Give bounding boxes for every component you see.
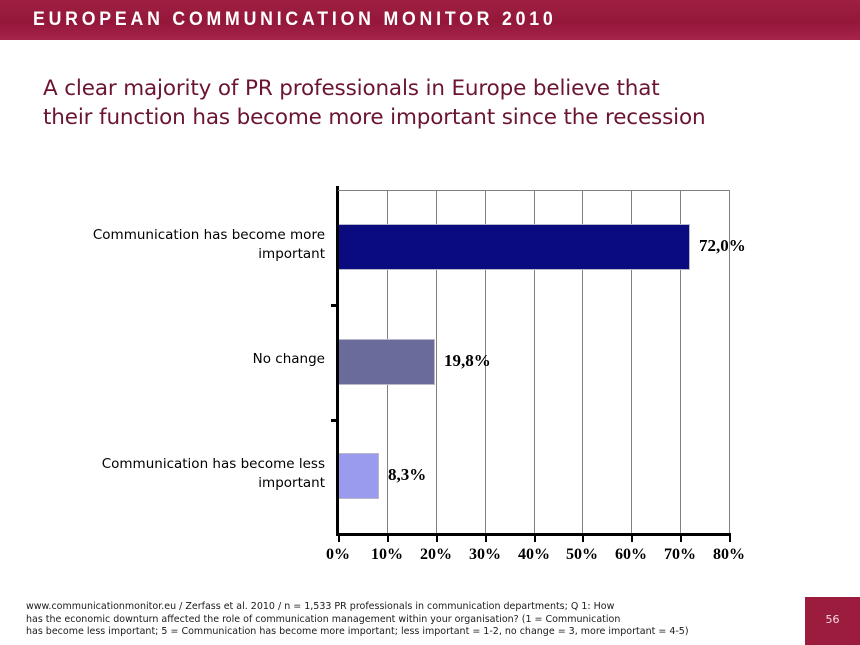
x-axis-line bbox=[336, 533, 731, 536]
category-label-1: Communication has become moreimportant bbox=[45, 226, 325, 264]
x-axis-tick bbox=[485, 536, 487, 542]
x-axis-tick bbox=[338, 536, 340, 542]
x-axis-tick bbox=[534, 536, 536, 542]
footnote: www.communicationmonitor.eu / Zerfass et… bbox=[26, 601, 766, 639]
x-axis-tick bbox=[729, 536, 731, 542]
x-axis-tick bbox=[582, 536, 584, 542]
page-number-badge: 56 bbox=[805, 597, 860, 645]
category-label-2: No change bbox=[45, 350, 325, 369]
category-label-line: important bbox=[45, 474, 325, 493]
bar-chart: 0%10%20%30%40%50%60%70%80%72,0%Communica… bbox=[0, 0, 860, 645]
category-label-line: important bbox=[45, 245, 325, 264]
footnote-line-2: has the economic downturn affected the r… bbox=[26, 614, 766, 627]
x-axis-tick-label: 80% bbox=[699, 546, 759, 564]
plot-right-border bbox=[729, 190, 730, 533]
page-number-label: 56 bbox=[805, 613, 860, 626]
plot-top-border bbox=[338, 190, 729, 191]
x-axis-tick bbox=[680, 536, 682, 542]
category-label-3: Communication has become lessimportant bbox=[45, 455, 325, 493]
x-axis-tick bbox=[387, 536, 389, 542]
y-axis-line bbox=[336, 186, 339, 536]
category-label-line: Communication has become less bbox=[45, 455, 325, 474]
bar-1 bbox=[338, 224, 690, 270]
bar-3 bbox=[338, 453, 379, 499]
footnote-line-1: www.communicationmonitor.eu / Zerfass et… bbox=[26, 601, 766, 614]
x-axis-tick bbox=[436, 536, 438, 542]
bar-value-label-1: 72,0% bbox=[699, 236, 746, 256]
x-axis-tick bbox=[631, 536, 633, 542]
bar-value-label-3: 8,3% bbox=[388, 465, 426, 485]
bar-value-label-2: 19,8% bbox=[444, 351, 491, 371]
footnote-line-3: has become less important; 5 = Communica… bbox=[26, 626, 766, 639]
category-label-line: No change bbox=[45, 350, 325, 369]
bar-2 bbox=[338, 339, 435, 385]
category-label-line: Communication has become more bbox=[45, 226, 325, 245]
